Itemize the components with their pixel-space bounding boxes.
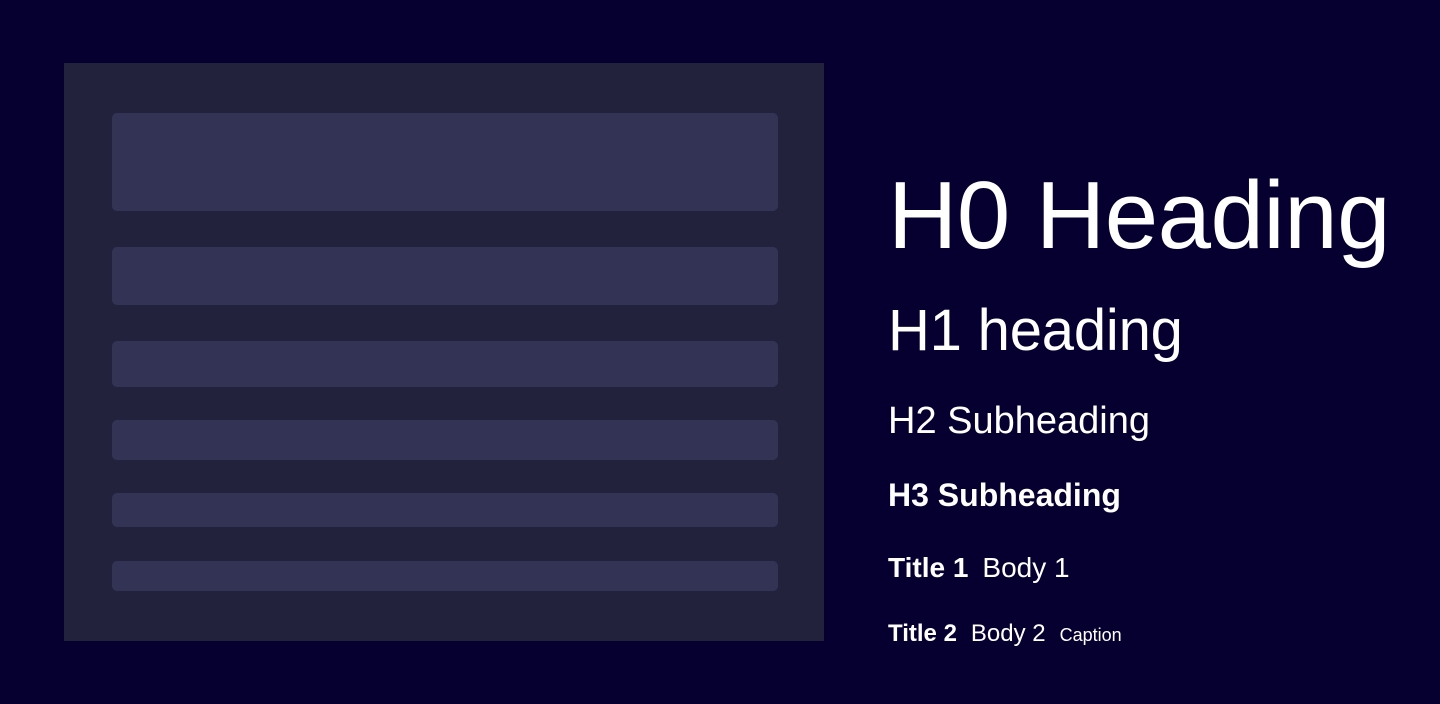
placeholder-bar-3: [112, 341, 778, 387]
sample-h2-subheading-text: H2 Subheading: [888, 401, 1150, 443]
placeholder-bar-2: [112, 247, 778, 305]
sample-h2-subheading: H2 Subheading: [888, 401, 1150, 443]
sample-caption-text: Caption: [1060, 625, 1122, 646]
placeholder-bar-1: [112, 113, 778, 211]
sample-body-1-text: Body 1: [982, 552, 1069, 584]
sample-title-1-text: Title 1: [888, 552, 968, 584]
placeholder-bar-6: [112, 561, 778, 591]
placeholder-bar-5: [112, 493, 778, 527]
screen-root: H0 Heading H1 heading H2 Subheading H3 S…: [0, 0, 1440, 704]
placeholder-bar-4: [112, 420, 778, 460]
typography-specimen: H0 Heading H1 heading H2 Subheading H3 S…: [888, 63, 1388, 641]
sample-h0-heading-text: H0 Heading: [888, 167, 1390, 265]
sample-title-2-text: Title 2: [888, 620, 957, 648]
sample-h3-subheading: H3 Subheading: [888, 478, 1121, 513]
sample-body-2-text: Body 2: [971, 620, 1046, 648]
sample-h1-heading-text: H1 heading: [888, 301, 1183, 362]
sample-h3-subheading-text: H3 Subheading: [888, 478, 1121, 513]
sample-title-body-row-2: Title 2 Body 2 Caption: [888, 620, 1122, 648]
sample-title-body-row-1: Title 1 Body 1: [888, 552, 1070, 584]
sample-h1-heading: H1 heading: [888, 301, 1183, 362]
sample-h0-heading: H0 Heading: [888, 167, 1390, 265]
content-placeholder-panel: [64, 63, 824, 641]
